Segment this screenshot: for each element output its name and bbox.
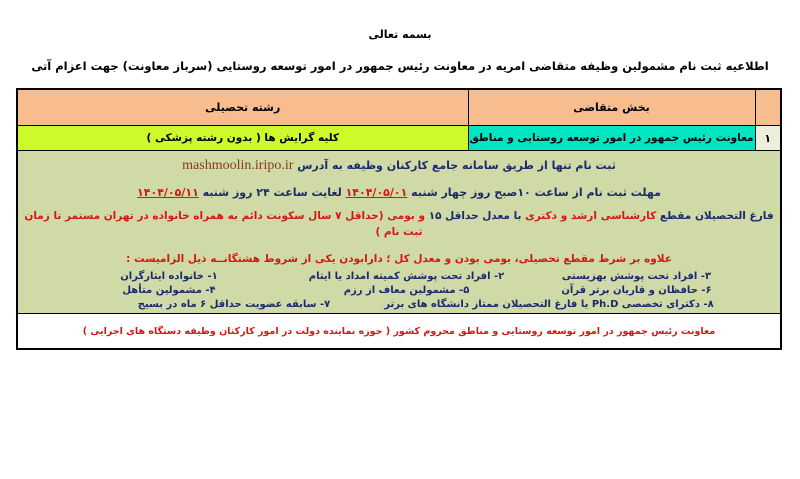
condition-item-1: ۱- خانواده ایثارگران bbox=[54, 271, 284, 282]
deadline-line: مهلت ثبت نام از ساعت ۱۰صبح روز چهار شنبه… bbox=[18, 185, 780, 202]
condition-text-8-before: دکترای تخصصی bbox=[622, 299, 700, 310]
degree-segment-local: و بومی bbox=[387, 210, 425, 222]
deadline-end-date: ۱۴۰۴/۰۵/۱۱ bbox=[137, 185, 199, 202]
conditions-row-2: ۶- حافظان و قاریان برتر قرآن ۵- مشمولین … bbox=[18, 285, 780, 296]
degree-requirement-line: فارغ التحصیلان مقطع کارشناسی ارشد و دکتر… bbox=[18, 208, 780, 242]
condition-text-7: سابقه عضویت حداقل ۶ ماه در بسیج bbox=[138, 299, 317, 310]
conditions-row-3: ۸- دکترای تخصصی Ph.D یا فارغ التحصیلان م… bbox=[18, 299, 780, 310]
condition-item-5: ۵- مشمولین معاف از رزم bbox=[284, 285, 529, 296]
conditions-row-1: ۳- افراد تحت پوشش بهزیستی ۲- افراد تحت پ… bbox=[18, 271, 780, 282]
deadline-start-date: ۱۴۰۴/۰۵/۰۱ bbox=[346, 185, 408, 202]
condition-text-8-latin: Ph.D bbox=[592, 299, 619, 310]
table-body-row: ثبت نام تنها از طریق سامانه جامع کارکنان… bbox=[17, 151, 781, 314]
registration-line: ثبت نام تنها از طریق سامانه جامع کارکنان… bbox=[18, 155, 780, 176]
condition-text-6: حافظان و قاریان برتر قرآن bbox=[561, 285, 697, 296]
row-section-name: معاونت رئیس جمهور در امور توسعه روستایی … bbox=[468, 126, 755, 151]
row-number: ۱ bbox=[755, 126, 781, 151]
condition-number-6: ۶- bbox=[701, 285, 711, 296]
condition-item-4: ۴- مشمولین متأهل bbox=[54, 285, 284, 296]
footer-note: معاونت رئیس جمهور در امور توسعه روستایی … bbox=[17, 314, 781, 350]
degree-segment-prefix: فارغ التحصیلان مقطع bbox=[660, 210, 774, 222]
deadline-middle: لغایت ساعت ۲۴ روز شنبه bbox=[203, 186, 342, 199]
condition-number-7: ۷- bbox=[320, 299, 330, 310]
conditions-header: علاوه بر شرط مقطع تحصیلی، بومی بودن و مع… bbox=[18, 253, 780, 265]
condition-text-4: مشمولین متأهل bbox=[122, 285, 202, 296]
condition-number-2: ۲- bbox=[494, 271, 504, 282]
condition-number-8: ۸- bbox=[703, 299, 713, 310]
condition-item-3: ۳- افراد تحت پوشش بهزیستی bbox=[529, 271, 744, 282]
condition-number-5: ۵- bbox=[459, 285, 469, 296]
row-field-of-study: کلیه گرایش ها ( بدون رشته پزشکی ) bbox=[17, 126, 468, 151]
document-page: بسمه تعالی اطلاعیه ثبت نام مشمولین وظیفه… bbox=[0, 0, 800, 479]
document-title: اطلاعیه ثبت نام مشمولین وظیفه متقاضی امر… bbox=[0, 59, 800, 73]
column-header-section: بخش متقاضی bbox=[468, 89, 755, 126]
table-row: ۱ معاونت رئیس جمهور در امور توسعه روستای… bbox=[17, 126, 781, 151]
registration-prefix: ثبت نام تنها از طریق سامانه جامع کارکنان… bbox=[297, 159, 616, 172]
condition-text-5: مشمولین معاف از رزم bbox=[344, 285, 456, 296]
condition-item-7: ۷- سابقه عضویت حداقل ۶ ماه در بسیج bbox=[84, 299, 384, 310]
condition-number-3: ۳- bbox=[701, 271, 711, 282]
condition-item-8: ۸- دکترای تخصصی Ph.D یا فارغ التحصیلان م… bbox=[384, 299, 714, 310]
condition-text-3: افراد تحت پوشش بهزیستی bbox=[562, 271, 697, 282]
degree-segment-levels: کارشناسی ارشد و دکتری bbox=[525, 210, 656, 222]
column-header-field: رشته تحصیلی bbox=[17, 89, 468, 126]
degree-segment-gpa: با معدل حداقل ۱۵ bbox=[429, 210, 522, 222]
conditions-block: ثبت نام تنها از طریق سامانه جامع کارکنان… bbox=[17, 151, 781, 314]
table-footer-row: معاونت رئیس جمهور در امور توسعه روستایی … bbox=[17, 314, 781, 350]
condition-item-6: ۶- حافظان و قاریان برتر قرآن bbox=[529, 285, 744, 296]
deadline-prefix: مهلت ثبت نام از ساعت ۱۰صبح روز چهار شنبه bbox=[411, 186, 661, 199]
condition-text-1: خانواده ایثارگران bbox=[120, 271, 204, 282]
condition-text-8-after: یا فارغ التحصیلان ممتاز دانشگاه های برتر bbox=[384, 299, 588, 310]
table-header-row: بخش متقاضی رشته تحصیلی bbox=[17, 89, 781, 126]
announcement-table: بخش متقاضی رشته تحصیلی ۱ معاونت رئیس جمه… bbox=[16, 88, 782, 350]
condition-item-2: ۲- افراد تحت پوشش کمیته امداد یا ایتام bbox=[284, 271, 529, 282]
column-header-number bbox=[755, 89, 781, 126]
condition-number-4: ۴- bbox=[205, 285, 215, 296]
basmala-heading: بسمه تعالی bbox=[0, 28, 800, 41]
registration-url[interactable]: mashmoolin.iripo.ir bbox=[182, 155, 293, 176]
condition-text-2: افراد تحت پوشش کمیته امداد یا ایتام bbox=[309, 271, 491, 282]
condition-number-1: ۱- bbox=[207, 271, 217, 282]
degree-segment-residency: (حداقل ۷ سال سکونت دائم به همراه خانواده… bbox=[24, 210, 422, 239]
